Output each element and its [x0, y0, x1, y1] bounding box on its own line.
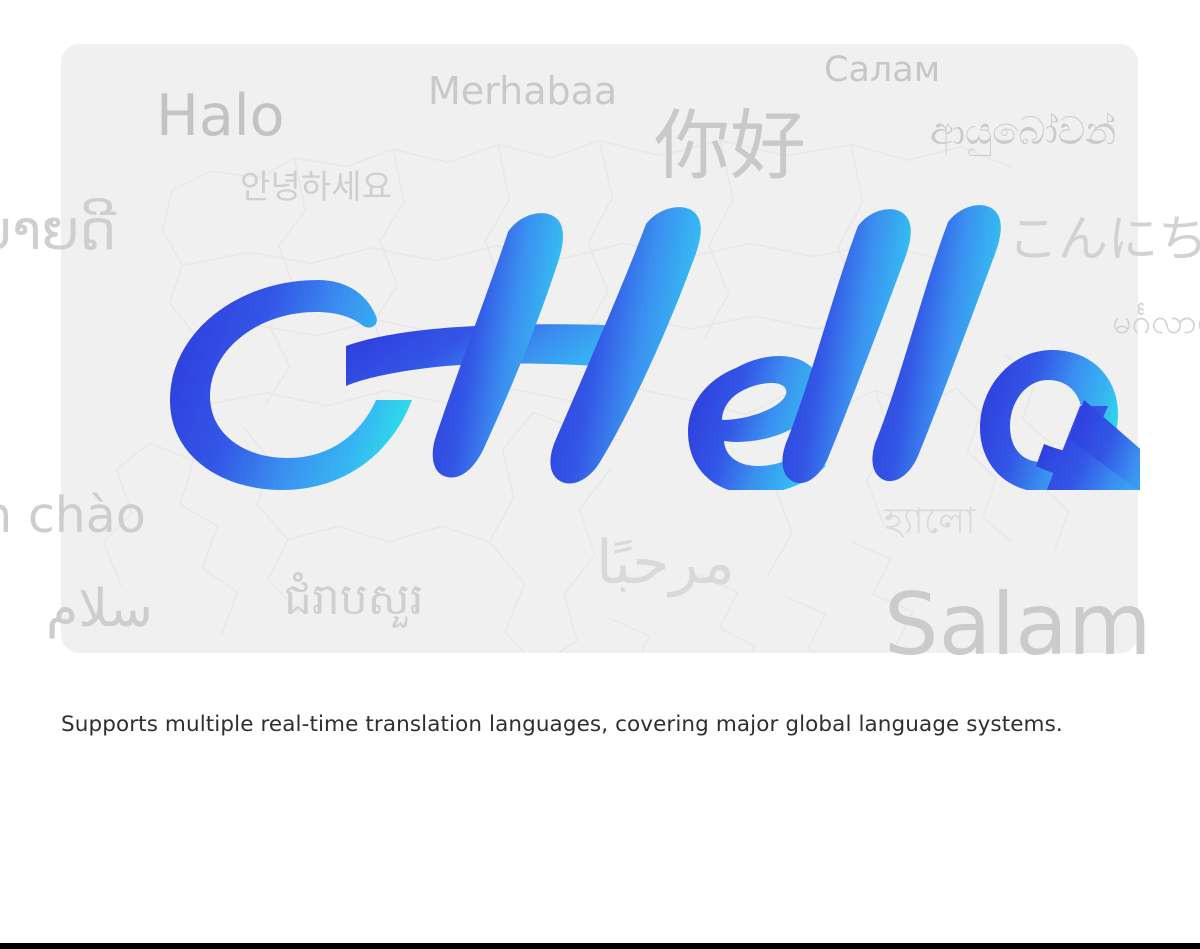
device-bottom-bar	[0, 943, 1200, 949]
feature-caption: Supports multiple real-time translation …	[61, 710, 1141, 740]
hello-wordmark	[140, 200, 1140, 490]
page-root: Halo Merhabaa Салам 안녕하세요 你好 ආයුබෝවන් ສະ…	[0, 0, 1200, 949]
